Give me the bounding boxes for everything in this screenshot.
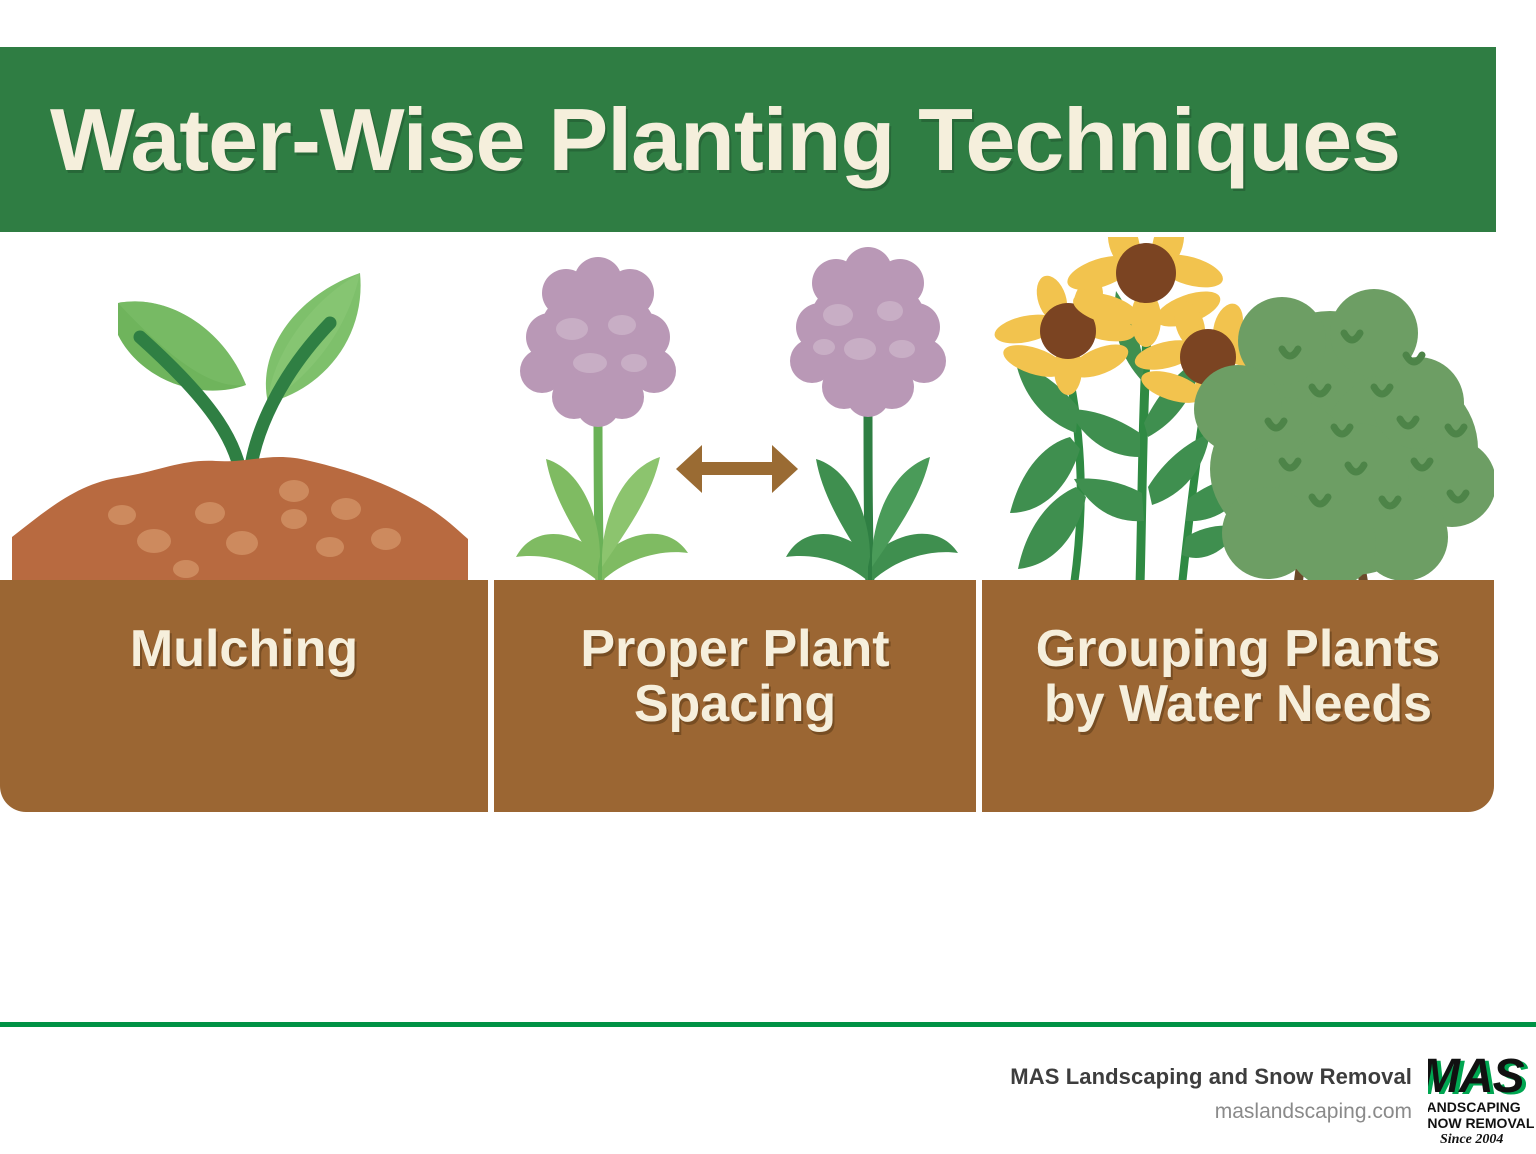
- panel-proper-plant-spacing[interactable]: Proper Plant Spacing: [494, 237, 976, 812]
- panel-label-line-2: Spacing: [508, 677, 962, 732]
- panel-label-proper-plant-spacing: Proper Plant Spacing: [494, 622, 976, 731]
- panel-mulching[interactable]: Mulching: [0, 237, 488, 812]
- panel-label-line-1: Grouping Plants: [996, 622, 1480, 677]
- panel-label-grouping-plants: Grouping Plants by Water Needs: [982, 622, 1494, 731]
- svg-text:Since 2004: Since 2004: [1440, 1132, 1503, 1146]
- panel-label-mulching: Mulching: [0, 622, 488, 677]
- panel-label-line-2: by Water Needs: [996, 677, 1480, 732]
- svg-text:MAS: MAS: [1428, 1050, 1525, 1103]
- svg-text:LANDSCAPING: LANDSCAPING: [1428, 1099, 1521, 1115]
- svg-text:SNOW REMOVAL: SNOW REMOVAL: [1428, 1115, 1535, 1131]
- panel-label-line-1: Proper Plant: [508, 622, 962, 677]
- page-title: Water-Wise Planting Techniques: [50, 96, 1400, 184]
- mas-logo[interactable]: MAS MAS LANDSCAPING SNOW REMOVAL Since 2…: [1428, 1050, 1536, 1146]
- two-spaced-flowers-with-double-arrow-icon: [494, 237, 976, 585]
- footer-website[interactable]: maslandscaping.com: [1010, 1099, 1412, 1124]
- footer: MAS Landscaping and Snow Removal masland…: [0, 1050, 1536, 1154]
- footer-company-name: MAS Landscaping and Snow Removal: [1010, 1064, 1412, 1090]
- coneflowers-and-shrub-icon: [982, 237, 1494, 585]
- spacing-arrow: [676, 445, 798, 493]
- seedling-in-mulch-mound-icon: [0, 237, 488, 585]
- coneflower-left: [992, 272, 1138, 395]
- header-banner: Water-Wise Planting Techniques: [0, 47, 1496, 232]
- soil-band-mulching: [0, 580, 488, 812]
- footer-divider: [0, 1022, 1536, 1027]
- panel-grouping-plants-by-water-needs[interactable]: Grouping Plants by Water Needs: [982, 237, 1494, 812]
- footer-text-block: MAS Landscaping and Snow Removal masland…: [1010, 1050, 1412, 1125]
- techniques-panel-group: Mulching: [0, 237, 1536, 817]
